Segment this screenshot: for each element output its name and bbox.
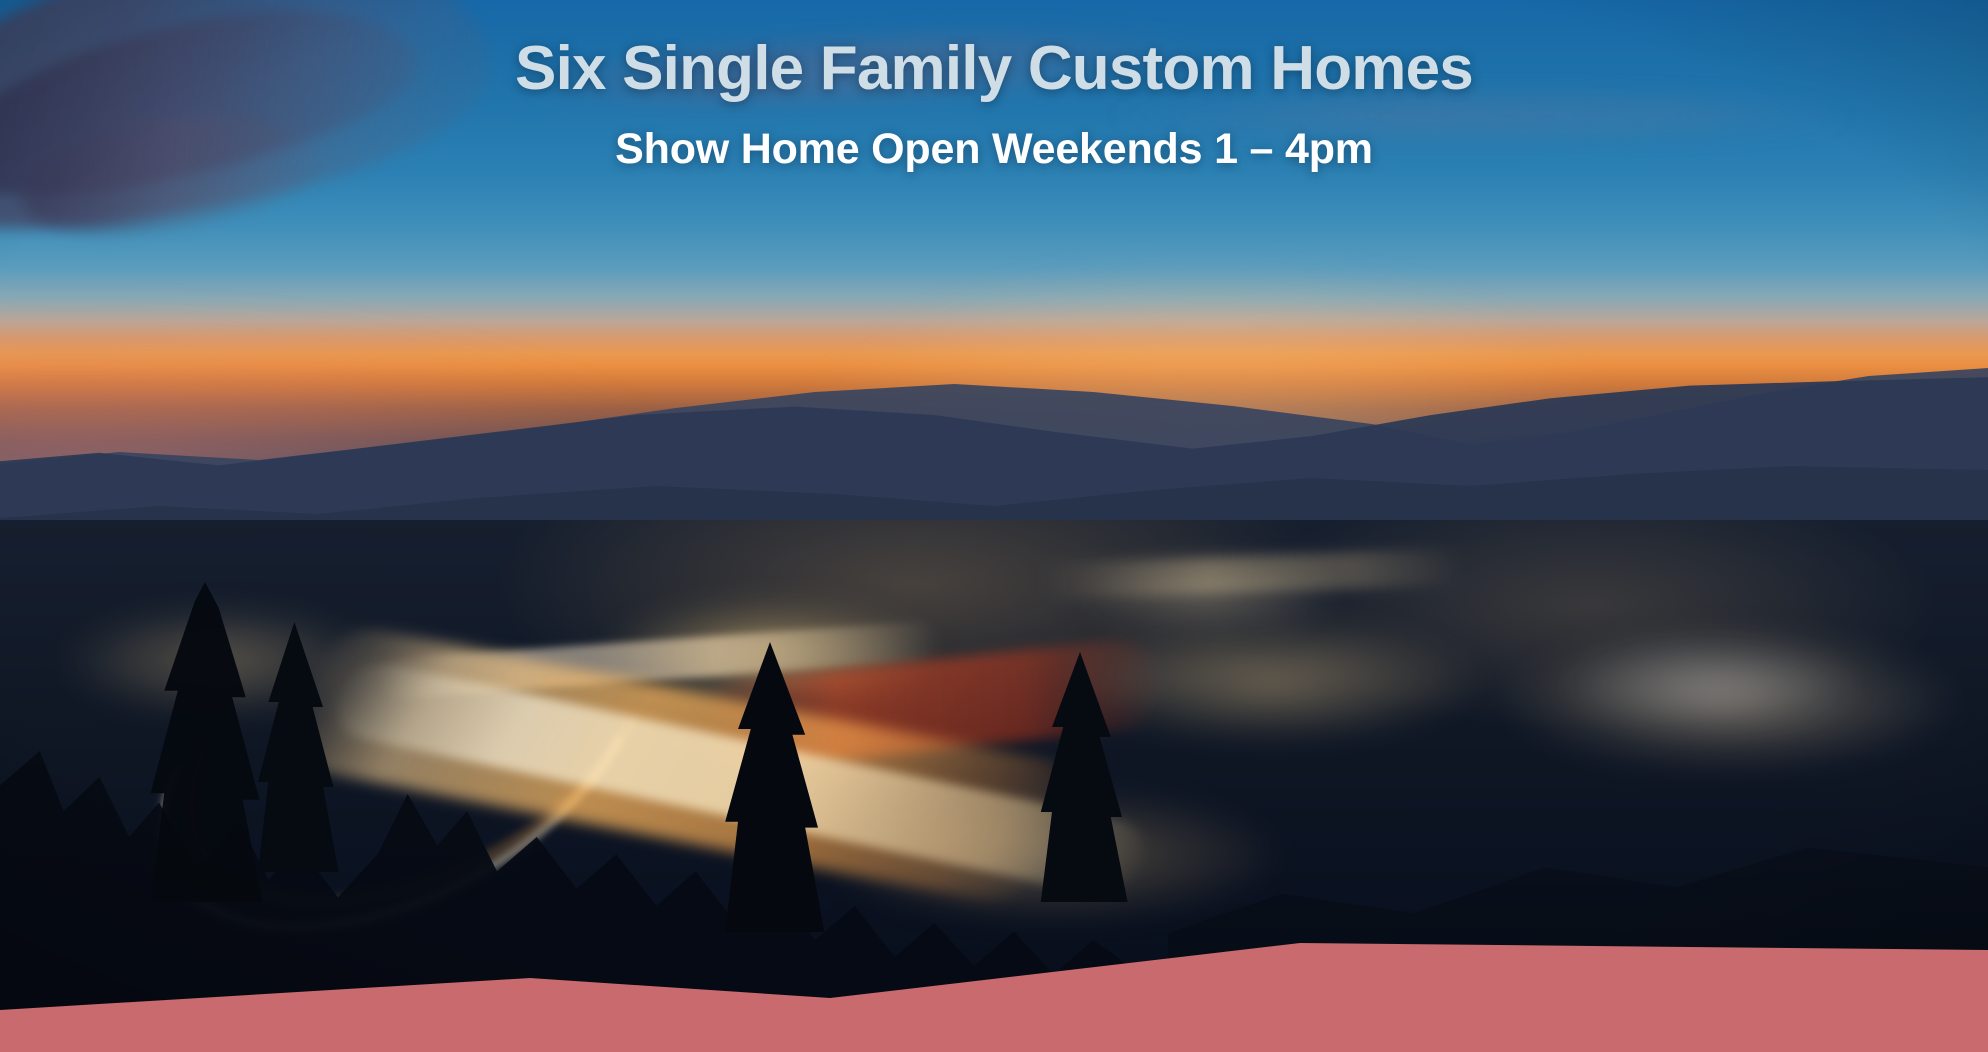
rose-zigzag-polygon: [0, 943, 1988, 1052]
banner-subtitle: Show Home Open Weekends 1 – 4pm: [0, 128, 1988, 171]
page-title: Six Single Family Custom Homes: [0, 38, 1988, 100]
rose-zigzag-svg: [0, 932, 1988, 1052]
banner-copy: Six Single Family Custom Homes Show Home…: [0, 0, 1988, 171]
rose-zigzag-divider: [0, 932, 1988, 1052]
hero-banner: Six Single Family Custom Homes Show Home…: [0, 0, 1988, 1052]
